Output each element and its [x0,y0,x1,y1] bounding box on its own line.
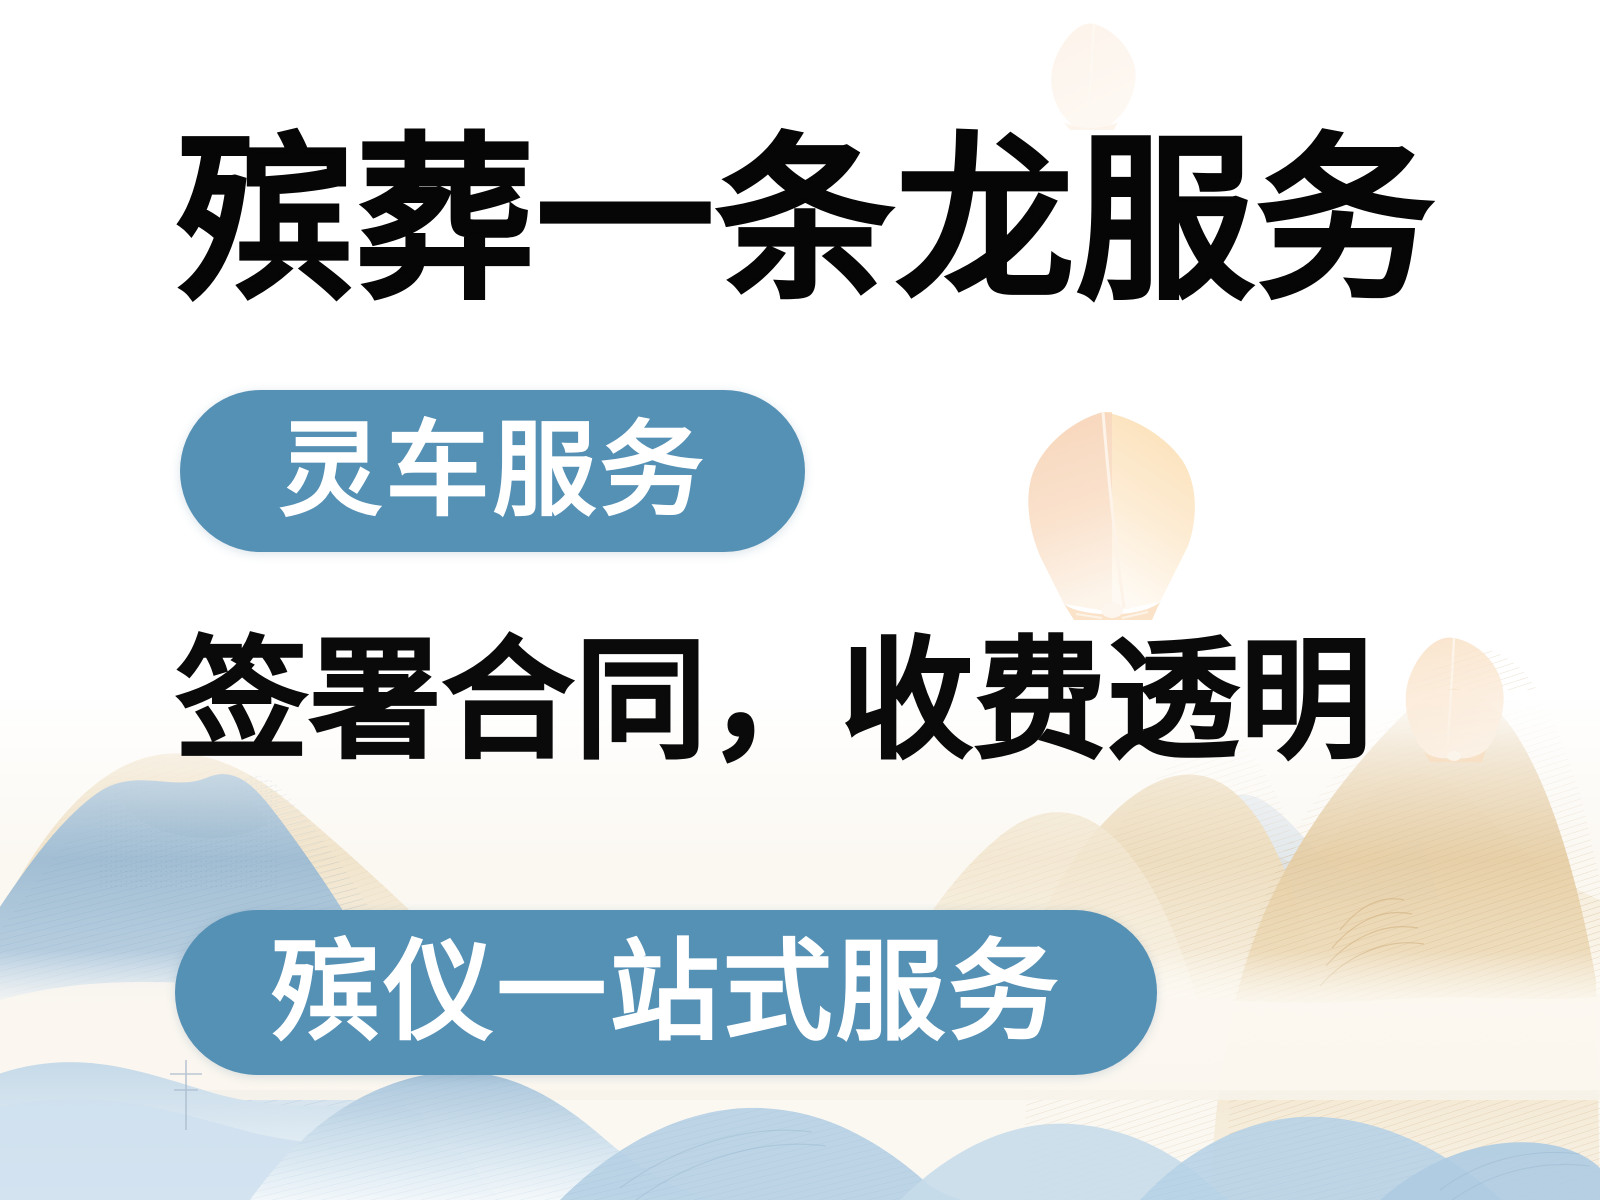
sky-lantern-right-icon [1398,632,1510,768]
poster-canvas: 殡葬一条龙服务 灵车服务 签署合同，收费透明 殡仪一站式服务 [0,0,1600,1200]
subtitle-contract-transparency: 签署合同，收费透明 [176,636,1373,768]
service-tag-one-stop[interactable]: 殡仪一站式服务 [175,910,1157,1075]
service-tag-one-stop-label: 殡仪一站式服务 [271,938,1062,1048]
service-tag-hearse-label: 灵车服务 [278,419,706,523]
sky-lantern-top-icon [1040,18,1144,136]
sky-lantern-large-icon [1002,386,1216,634]
service-tag-hearse[interactable]: 灵车服务 [180,390,805,552]
page-title: 殡葬一条龙服务 [176,133,1436,311]
